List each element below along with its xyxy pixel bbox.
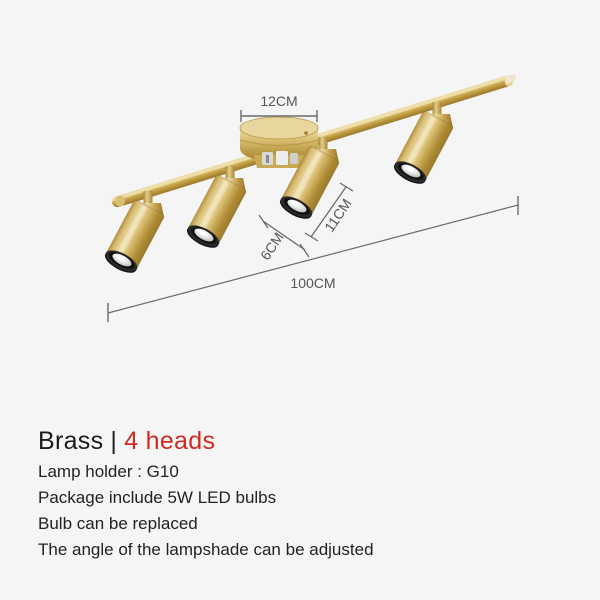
dimension-12cm-label: 12CM: [260, 93, 297, 109]
dimension-100cm: 100CM: [108, 196, 518, 322]
material-label: Brass: [38, 427, 103, 455]
dimension-6cm: 6CM: [257, 215, 309, 263]
spec-line-lamp-holder: Lamp holder : G10: [38, 460, 578, 484]
spotlight-head-1: [102, 191, 166, 277]
spec-line-adjustable: The angle of the lampshade can be adjust…: [38, 538, 578, 562]
title-separator: |: [103, 427, 124, 455]
track-light-illustration: 12CM 6CM 11CM 100CM: [0, 0, 600, 400]
product-photo: 12CM 6CM 11CM 100CM: [0, 0, 600, 400]
product-spec-block: Brass|4 heads Lamp holder : G10 Package …: [38, 424, 578, 562]
spec-line-replaceable: Bulb can be replaced: [38, 512, 578, 536]
spec-title-row: Brass|4 heads: [38, 424, 578, 458]
spec-line-package: Package include 5W LED bulbs: [38, 486, 578, 510]
product-listing-image: 12CM 6CM 11CM 100CM: [0, 0, 600, 600]
dimension-100cm-label: 100CM: [290, 275, 335, 291]
head-count-label: 4 heads: [124, 427, 215, 455]
